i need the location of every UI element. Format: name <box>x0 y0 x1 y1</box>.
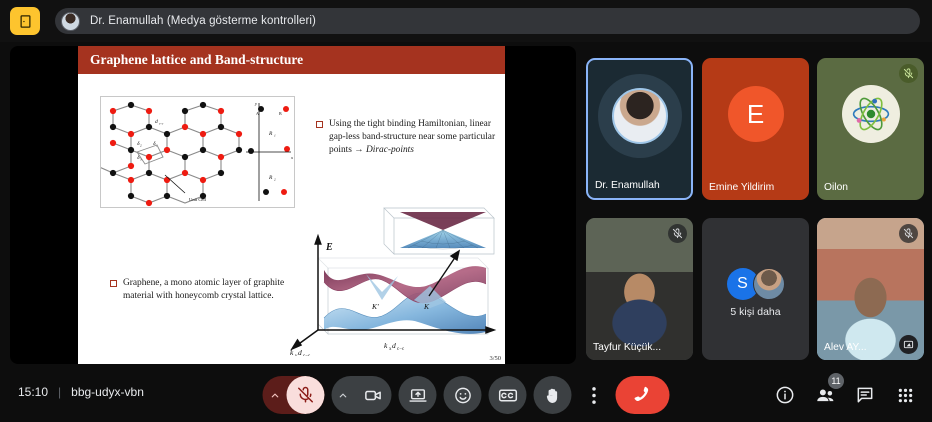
more-options-icon[interactable] <box>579 376 609 414</box>
participant-tile-oilon[interactable]: Oilon <box>817 58 924 200</box>
avatar <box>61 12 80 31</box>
overflow-avatars: S <box>727 268 785 300</box>
svg-text:c−c: c−c <box>397 347 405 352</box>
people-icon[interactable]: 11 <box>814 384 836 406</box>
participant-tile-alev-ay[interactable]: Alev AY... <box>817 218 924 360</box>
call-controls <box>263 376 670 414</box>
meeting-right-controls: 11 <box>774 384 916 406</box>
google-meet-window: Dr. Enamullah (Medya gösterme kontroller… <box>0 0 932 422</box>
avatar-photo <box>612 88 668 144</box>
raise-hand-icon[interactable] <box>534 376 572 414</box>
meeting-code[interactable]: bbg-udyx-vbn <box>71 385 144 399</box>
people-count-badge: 11 <box>828 373 844 389</box>
mic-muted-icon <box>668 224 687 243</box>
atom-logo-icon <box>842 85 900 143</box>
activities-grid-icon[interactable] <box>894 384 916 406</box>
participant-tile-emine-yildirim[interactable]: E Emine Yildirim <box>702 58 809 200</box>
end-call-icon[interactable] <box>616 376 670 414</box>
svg-text:2: 2 <box>140 144 142 148</box>
clock-time: 15:10 <box>18 385 48 399</box>
svg-text:k: k <box>384 341 388 350</box>
svg-text:d: d <box>298 348 302 356</box>
bottom-bar: 15:10 | bbg-udyx-vbn <box>0 366 932 422</box>
participant-tile-more-people[interactable]: S 5 kişi daha <box>702 218 809 360</box>
bullet-square-icon <box>110 280 117 287</box>
presenter-status-pill[interactable]: Dr. Enamullah (Medya gösterme kontroller… <box>55 8 920 34</box>
svg-text:E: E <box>325 242 333 253</box>
bullet-item-graphene-definition: Graphene, a mono atomic layer of graphit… <box>110 277 285 303</box>
svg-text:y: y <box>254 101 258 106</box>
overflow-label: 5 kişi daha <box>702 306 809 318</box>
present-screen-icon[interactable] <box>399 376 437 414</box>
meeting-meta: 15:10 | bbg-udyx-vbn <box>18 385 144 399</box>
mic-muted-icon <box>899 224 918 243</box>
presentation-stage[interactable]: Graphene lattice and Band-structure <box>10 46 576 364</box>
microphone-control-group[interactable] <box>263 376 325 414</box>
participant-name: Emine Yildirim <box>702 178 809 200</box>
presenter-label: Dr. Enamullah (Medya gösterme kontroller… <box>90 15 316 27</box>
bullet-text-right-emphasis: Dirac-points <box>366 145 414 155</box>
svg-text:B: B <box>279 111 282 116</box>
participant-name: Alev AY... <box>817 338 924 360</box>
band-structure-figure: E K' K k x d c−c k y d c−c <box>288 196 500 356</box>
participant-name: Dr. Enamullah <box>588 176 691 198</box>
top-bar: Dr. Enamullah (Medya gösterme kontroller… <box>0 0 932 42</box>
participant-tile-tayfur-kucuk[interactable]: Tayfur Küçük... <box>586 218 693 360</box>
camera-control-group[interactable] <box>332 376 392 414</box>
chevron-up-icon[interactable] <box>263 376 287 414</box>
meta-separator: | <box>58 385 61 399</box>
participant-name: Tayfur Küçük... <box>586 338 693 360</box>
svg-text:Unit Cell: Unit Cell <box>189 197 207 202</box>
avatar-initial: E <box>728 86 784 142</box>
slide-title-bar: Graphene lattice and Band-structure <box>78 46 505 74</box>
bullet-text-left: Graphene, a mono atomic layer of graphit… <box>123 277 285 303</box>
svg-text:c-c: c-c <box>159 122 164 126</box>
graphene-lattice-figure: dc-c δ2 δ1 δ3 R1 R2 y x A B Unit Cell <box>100 96 295 208</box>
camera-icon[interactable] <box>354 376 392 414</box>
svg-text:k: k <box>290 348 294 356</box>
emoji-reaction-icon[interactable] <box>444 376 482 414</box>
svg-text:1: 1 <box>274 134 276 138</box>
slide: Graphene lattice and Band-structure <box>78 46 505 364</box>
chat-icon[interactable] <box>854 384 876 406</box>
svg-text:R: R <box>268 131 273 137</box>
svg-text:d: d <box>392 341 396 350</box>
bullet-item-tight-binding: Using the tight binding Hamiltonian, lin… <box>316 118 496 157</box>
mic-muted-icon <box>899 64 918 83</box>
svg-text:x: x <box>290 155 293 160</box>
closed-captions-icon[interactable] <box>489 376 527 414</box>
info-icon[interactable] <box>774 384 796 406</box>
avatar <box>598 74 682 158</box>
participant-tile-dr-enamullah[interactable]: Dr. Enamullah <box>586 58 693 200</box>
svg-text:c−c: c−c <box>303 354 311 356</box>
page-title: Graphene lattice and Band-structure <box>90 52 303 68</box>
exit-door-icon[interactable] <box>10 7 40 35</box>
slide-page-number: 3/50 <box>489 355 501 362</box>
bullet-square-icon <box>316 121 323 128</box>
avatar-photo <box>753 268 785 300</box>
svg-text:2: 2 <box>274 178 276 182</box>
svg-text:K': K' <box>371 302 379 311</box>
participant-tiles: Dr. Enamullah E Emine Yildirim <box>586 58 924 360</box>
svg-text:A: A <box>256 111 259 116</box>
mic-muted-icon[interactable] <box>287 376 325 414</box>
svg-text:d: d <box>155 119 158 125</box>
svg-text:K: K <box>423 302 430 311</box>
chevron-up-icon[interactable] <box>332 376 354 414</box>
svg-text:R: R <box>268 175 273 181</box>
slide-body: dc-c δ2 δ1 δ3 R1 R2 y x A B Unit Cell <box>78 74 505 364</box>
participant-name: Oilon <box>817 178 924 200</box>
